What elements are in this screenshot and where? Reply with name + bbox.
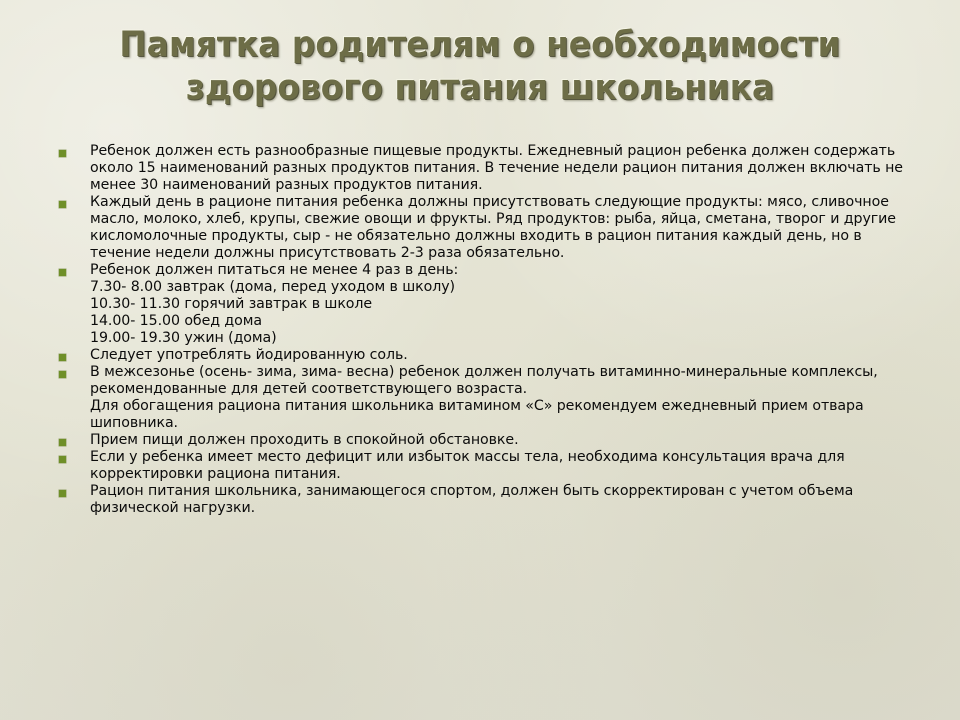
bullet-list: Ребенок должен есть разнообразные пищевы… (0, 143, 960, 517)
bullet-square-icon (59, 439, 66, 446)
slide-canvas: Памятка родителям о необходимости здоров… (0, 0, 960, 720)
bullet-square-icon (59, 269, 66, 276)
list-item: Ребенок должен есть разнообразные пищевы… (0, 143, 960, 194)
page-title: Памятка родителям о необходимости здоров… (0, 24, 960, 110)
list-item-text: В межсезонье (осень- зима, зима- весна) … (90, 364, 910, 432)
list-item-text: Следует употреблять йодированную соль. (90, 347, 910, 364)
list-item-text: Прием пищи должен проходить в спокойной … (90, 432, 910, 449)
bullet-square-icon (59, 456, 66, 463)
list-item: Каждый день в рационе питания ребенка до… (0, 194, 960, 262)
list-item: Если у ребенка имеет место дефицит или и… (0, 449, 960, 483)
list-item: Рацион питания школьника, занимающегося … (0, 483, 960, 517)
list-item-text: Если у ребенка имеет место дефицит или и… (90, 449, 910, 483)
page-title-line-1: Памятка родителям о необходимости (34, 24, 927, 67)
list-item: Ребенок должен питаться не менее 4 раз в… (0, 262, 960, 347)
page-title-line-2: здорового питания школьника (34, 67, 927, 110)
list-item-text: Ребенок должен есть разнообразные пищевы… (90, 143, 910, 194)
bullet-square-icon (59, 150, 66, 157)
list-item-text: Рацион питания школьника, занимающегося … (90, 483, 910, 517)
bullet-square-icon (59, 490, 66, 497)
bullet-square-icon (59, 201, 66, 208)
list-item-text: Ребенок должен питаться не менее 4 раз в… (90, 262, 910, 347)
list-item: Прием пищи должен проходить в спокойной … (0, 432, 960, 449)
list-item-text: Каждый день в рационе питания ребенка до… (90, 194, 910, 262)
list-item: В межсезонье (осень- зима, зима- весна) … (0, 364, 960, 432)
list-item: Следует употреблять йодированную соль. (0, 347, 960, 364)
bullet-square-icon (59, 354, 66, 361)
bullet-square-icon (59, 371, 66, 378)
